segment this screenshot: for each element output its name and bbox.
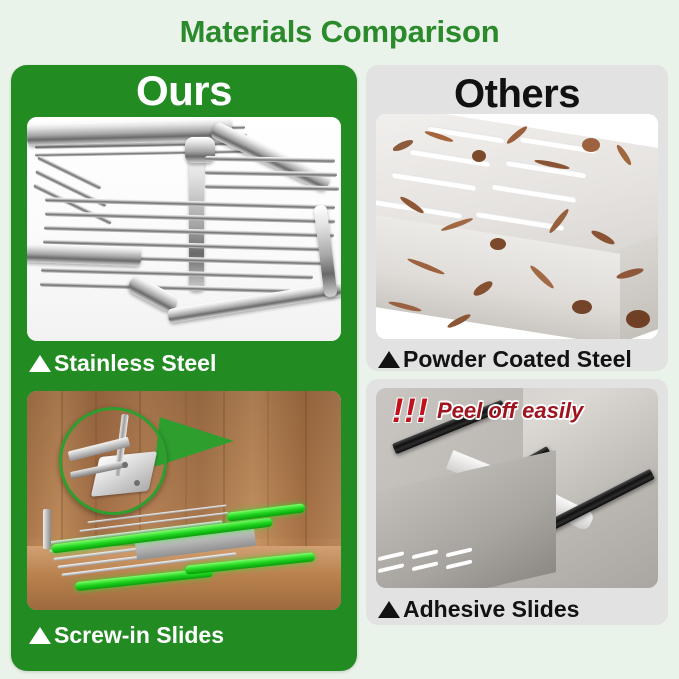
triangle-up-icon [29, 627, 51, 644]
image-screw-in-slides [27, 391, 341, 610]
caption-label: Stainless Steel [54, 350, 216, 377]
triangle-up-icon [29, 355, 51, 372]
rust-illustration [376, 114, 658, 339]
caption-label: Adhesive Slides [403, 596, 579, 623]
caption-label: Powder Coated Steel [403, 346, 632, 373]
screw-detail-inset [59, 407, 167, 515]
caption-stainless-steel: Stainless Steel [29, 350, 216, 377]
wood-cabinet-illustration [27, 391, 341, 610]
exclamation-marks-icon: !!! [392, 396, 429, 426]
triangle-up-icon [378, 601, 400, 618]
rack-illustration [27, 117, 341, 341]
triangle-up-icon [378, 351, 400, 368]
adhesive-illustration: !!! Peel off easily [376, 388, 658, 588]
caption-screw-in-slides: Screw-in Slides [29, 622, 224, 649]
image-powder-coated-steel-rusted [376, 114, 658, 339]
image-stainless-steel-rack [27, 117, 341, 341]
heading-others: Others [366, 72, 668, 116]
image-adhesive-slides: !!! Peel off easily [376, 388, 658, 588]
caption-powder-coated-steel: Powder Coated Steel [378, 346, 632, 373]
heading-ours: Ours [11, 68, 357, 114]
peel-off-warning: !!! Peel off easily [392, 396, 583, 426]
peel-off-text: Peel off easily [437, 398, 583, 424]
caption-adhesive-slides: Adhesive Slides [378, 596, 579, 623]
caption-label: Screw-in Slides [54, 622, 224, 649]
page-title: Materials Comparison [0, 14, 679, 50]
